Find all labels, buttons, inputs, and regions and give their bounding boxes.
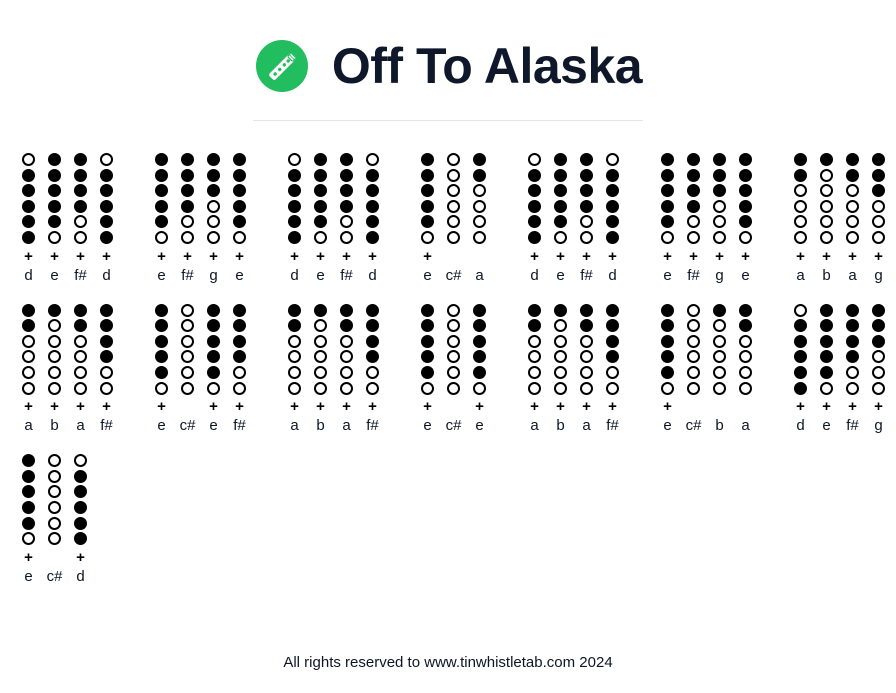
hole-closed-icon [739, 319, 752, 332]
hole-closed-icon [74, 200, 87, 213]
hole-closed-icon [554, 215, 567, 228]
fingering-holes [288, 304, 301, 398]
tab-measure: +a+b+a+f# [18, 304, 117, 436]
tab-note[interactable]: +e [151, 153, 172, 285]
fingering-holes [794, 153, 807, 247]
hole-closed-icon [421, 304, 434, 317]
fingering-holes [155, 304, 168, 398]
hole-open-icon [207, 382, 220, 395]
note-name-label: e [24, 568, 32, 586]
octave-marker: + [157, 249, 166, 264]
hole-closed-icon [739, 215, 752, 228]
fingering-holes [366, 153, 379, 247]
hole-closed-icon [74, 501, 87, 514]
hole-open-icon [794, 215, 807, 228]
tab-note[interactable]: +a [284, 304, 305, 436]
tab-note[interactable]: +e [550, 153, 571, 285]
hole-closed-icon [846, 335, 859, 348]
note-name-label: d [608, 267, 616, 285]
hole-open-icon [820, 169, 833, 182]
hole-closed-icon [661, 169, 674, 182]
hole-open-icon [447, 184, 460, 197]
hole-closed-icon [181, 153, 194, 166]
hole-open-icon [74, 215, 87, 228]
hole-closed-icon [155, 319, 168, 332]
octave-marker: + [157, 399, 166, 414]
hole-open-icon [739, 231, 752, 244]
hole-open-icon [872, 382, 885, 395]
tab-note[interactable]: +d [18, 153, 39, 285]
octave-marker: + [209, 249, 218, 264]
octave-marker: + [368, 249, 377, 264]
hole-closed-icon [794, 382, 807, 395]
hole-open-icon [48, 350, 61, 363]
tab-note[interactable]: +g [709, 153, 730, 285]
tab-note[interactable]: c# [443, 153, 464, 285]
hole-open-icon [48, 532, 61, 545]
hole-closed-icon [233, 169, 246, 182]
hole-open-icon [687, 304, 700, 317]
note-name-label: d [290, 267, 298, 285]
hole-closed-icon [713, 153, 726, 166]
note-name-label: d [368, 267, 376, 285]
hole-closed-icon [48, 169, 61, 182]
hole-open-icon [846, 215, 859, 228]
hole-closed-icon [473, 169, 486, 182]
hole-open-icon [181, 335, 194, 348]
tab-row: +d+e+f#+d+e+f#+g+e+d+e+f#+d+ec#a+d+e+f#+… [18, 153, 878, 285]
hole-closed-icon [22, 501, 35, 514]
hole-closed-icon [48, 304, 61, 317]
note-name-label: d [530, 267, 538, 285]
hole-open-icon [687, 366, 700, 379]
hole-closed-icon [74, 517, 87, 530]
note-name-label: b [316, 417, 324, 435]
tab-note[interactable]: +a [576, 304, 597, 436]
hole-closed-icon [473, 319, 486, 332]
tab-measure: +ec#+d [18, 454, 91, 586]
tab-note[interactable]: +f# [362, 304, 383, 436]
tab-note[interactable]: +f# [602, 304, 623, 436]
hole-closed-icon [687, 169, 700, 182]
tab-note[interactable]: +e [469, 304, 490, 436]
tab-note[interactable]: +e [229, 153, 250, 285]
hole-closed-icon [606, 350, 619, 363]
hole-closed-icon [48, 153, 61, 166]
tab-note[interactable]: +d [362, 153, 383, 285]
hole-closed-icon [661, 350, 674, 363]
hole-open-icon [22, 366, 35, 379]
hole-open-icon [447, 169, 460, 182]
hole-open-icon [794, 304, 807, 317]
hole-open-icon [713, 200, 726, 213]
hole-closed-icon [687, 153, 700, 166]
tab-note[interactable]: a [469, 153, 490, 285]
note-name-label: e [663, 417, 671, 435]
tab-measure: +ec#+e [417, 304, 490, 436]
hole-closed-icon [233, 319, 246, 332]
hole-closed-icon [74, 470, 87, 483]
hole-open-icon [48, 517, 61, 530]
note-name-label: c# [47, 568, 63, 586]
octave-marker: + [423, 249, 432, 264]
hole-closed-icon [580, 169, 593, 182]
tab-note[interactable]: +e [151, 304, 172, 436]
fingering-holes [74, 153, 87, 247]
fingering-holes [314, 153, 327, 247]
hole-open-icon [687, 231, 700, 244]
tab-note[interactable]: +f# [336, 153, 357, 285]
hole-closed-icon [528, 319, 541, 332]
hole-closed-icon [846, 304, 859, 317]
note-name-label: d [24, 267, 32, 285]
octave-marker: + [582, 249, 591, 264]
hole-open-icon [554, 335, 567, 348]
tab-note[interactable]: +e [18, 454, 39, 586]
octave-marker: + [316, 399, 325, 414]
hole-closed-icon [74, 153, 87, 166]
hole-open-icon [181, 382, 194, 395]
octave-marker: + [368, 399, 377, 414]
tab-note[interactable]: +e [657, 153, 678, 285]
hole-closed-icon [100, 335, 113, 348]
note-name-label: b [715, 417, 723, 435]
hole-open-icon [606, 382, 619, 395]
hole-open-icon [580, 231, 593, 244]
tab-note[interactable]: +a [524, 304, 545, 436]
hole-closed-icon [554, 169, 567, 182]
tin-whistle-logo-icon [254, 38, 310, 94]
hole-closed-icon [155, 304, 168, 317]
fingering-holes [233, 304, 246, 398]
octave-marker: + [76, 249, 85, 264]
hole-closed-icon [739, 304, 752, 317]
tab-note[interactable]: +e [735, 153, 756, 285]
hole-closed-icon [739, 184, 752, 197]
tab-note[interactable]: +f# [177, 153, 198, 285]
fingering-holes [606, 304, 619, 398]
hole-closed-icon [340, 184, 353, 197]
hole-closed-icon [100, 319, 113, 332]
page-title: Off To Alaska [332, 40, 642, 93]
fingering-holes [687, 304, 700, 398]
hole-open-icon [528, 153, 541, 166]
note-name-label: f# [846, 417, 859, 435]
fingering-holes [820, 304, 833, 398]
tab-measure: +d+e+f#+d [284, 153, 383, 285]
hole-closed-icon [554, 153, 567, 166]
hole-open-icon [181, 215, 194, 228]
note-name-label: a [76, 417, 84, 435]
fingering-holes [473, 153, 486, 247]
hole-closed-icon [181, 169, 194, 182]
hole-closed-icon [100, 304, 113, 317]
fingering-holes [421, 304, 434, 398]
hole-open-icon [48, 501, 61, 514]
note-name-label: e [556, 267, 564, 285]
hole-open-icon [48, 366, 61, 379]
note-name-label: c# [446, 417, 462, 435]
hole-closed-icon [794, 335, 807, 348]
fingering-holes [447, 304, 460, 398]
hole-closed-icon [872, 153, 885, 166]
hole-open-icon [447, 153, 460, 166]
hole-open-icon [580, 382, 593, 395]
tab-measure: +ec#+e+f# [151, 304, 250, 436]
octave-marker: + [102, 399, 111, 414]
tab-note[interactable]: +a [790, 153, 811, 285]
tab-note[interactable]: +g [203, 153, 224, 285]
tab-note[interactable]: +e [417, 304, 438, 436]
fingering-holes [473, 304, 486, 398]
hole-closed-icon [846, 350, 859, 363]
tab-note[interactable]: +f# [70, 153, 91, 285]
fingering-holes [580, 153, 593, 247]
tab-note[interactable]: +f# [576, 153, 597, 285]
fingering-holes [22, 454, 35, 548]
hole-open-icon [207, 231, 220, 244]
fingering-holes [739, 304, 752, 398]
tab-note[interactable]: +f# [96, 304, 117, 436]
octave-marker: + [24, 399, 33, 414]
note-name-label: b [822, 267, 830, 285]
hole-open-icon [314, 350, 327, 363]
hole-closed-icon [155, 153, 168, 166]
hole-closed-icon [22, 319, 35, 332]
hole-open-icon [288, 366, 301, 379]
tab-note[interactable]: +e [310, 153, 331, 285]
tab-note[interactable]: +d [524, 153, 545, 285]
hole-closed-icon [528, 184, 541, 197]
hole-closed-icon [366, 184, 379, 197]
hole-closed-icon [872, 169, 885, 182]
hole-closed-icon [288, 200, 301, 213]
hole-open-icon [687, 319, 700, 332]
hole-closed-icon [288, 169, 301, 182]
hole-open-icon [739, 350, 752, 363]
hole-closed-icon [155, 184, 168, 197]
hole-open-icon [340, 350, 353, 363]
tab-note[interactable]: +d [284, 153, 305, 285]
hole-closed-icon [580, 184, 593, 197]
hole-open-icon [447, 319, 460, 332]
tablature-area: +d+e+f#+d+e+f#+g+e+d+e+f#+d+ec#a+d+e+f#+… [0, 153, 896, 586]
tab-note[interactable]: +e [657, 304, 678, 436]
tab-note[interactable]: +e [44, 153, 65, 285]
hole-open-icon [181, 319, 194, 332]
hole-open-icon [447, 304, 460, 317]
hole-closed-icon [687, 200, 700, 213]
tab-note[interactable]: +b [44, 304, 65, 436]
tab-note[interactable]: +d [96, 153, 117, 285]
tab-note[interactable]: c# [683, 304, 704, 436]
octave-marker: + [235, 399, 244, 414]
tab-note[interactable]: +e [203, 304, 224, 436]
hole-open-icon [846, 231, 859, 244]
hole-closed-icon [181, 200, 194, 213]
note-name-label: a [741, 417, 749, 435]
hole-closed-icon [606, 184, 619, 197]
note-name-label: f# [74, 267, 87, 285]
tab-note[interactable]: +a [842, 153, 863, 285]
note-name-label: e [157, 267, 165, 285]
hole-closed-icon [233, 153, 246, 166]
hole-closed-icon [713, 184, 726, 197]
hole-closed-icon [580, 153, 593, 166]
tab-measure: +a+b+a+f# [524, 304, 623, 436]
hole-closed-icon [366, 169, 379, 182]
hole-closed-icon [233, 335, 246, 348]
hole-open-icon [181, 304, 194, 317]
tab-measure: +a+b+a+g [790, 153, 889, 285]
note-name-label: g [715, 267, 723, 285]
hole-closed-icon [22, 454, 35, 467]
hole-closed-icon [661, 319, 674, 332]
fingering-holes [447, 153, 460, 247]
hole-closed-icon [606, 319, 619, 332]
fingering-holes [739, 153, 752, 247]
tab-note[interactable]: +a [336, 304, 357, 436]
hole-open-icon [314, 382, 327, 395]
hole-closed-icon [820, 335, 833, 348]
hole-closed-icon [207, 350, 220, 363]
fingering-holes [661, 304, 674, 398]
hole-closed-icon [661, 304, 674, 317]
hole-closed-icon [606, 335, 619, 348]
hole-closed-icon [74, 532, 87, 545]
hole-closed-icon [233, 200, 246, 213]
hole-closed-icon [580, 304, 593, 317]
octave-marker: + [796, 249, 805, 264]
hole-closed-icon [794, 319, 807, 332]
tab-note[interactable]: +d [70, 454, 91, 586]
hole-closed-icon [74, 169, 87, 182]
hole-open-icon [74, 335, 87, 348]
tab-note[interactable]: +d [602, 153, 623, 285]
note-name-label: e [157, 417, 165, 435]
fingering-holes [421, 153, 434, 247]
hole-open-icon [846, 382, 859, 395]
hole-closed-icon [820, 366, 833, 379]
tab-note[interactable]: +b [816, 153, 837, 285]
note-name-label: d [796, 417, 804, 435]
octave-marker: + [822, 399, 831, 414]
note-name-label: f# [606, 417, 619, 435]
tab-note[interactable]: +b [550, 304, 571, 436]
hole-closed-icon [100, 184, 113, 197]
hole-closed-icon [661, 153, 674, 166]
hole-closed-icon [528, 215, 541, 228]
hole-open-icon [820, 200, 833, 213]
hole-closed-icon [528, 304, 541, 317]
hole-open-icon [207, 200, 220, 213]
hole-closed-icon [340, 169, 353, 182]
hole-closed-icon [155, 215, 168, 228]
hole-open-icon [554, 366, 567, 379]
tab-note[interactable]: +a [70, 304, 91, 436]
hole-closed-icon [739, 200, 752, 213]
octave-marker: + [874, 399, 883, 414]
tab-note[interactable]: +e [816, 304, 837, 436]
hole-open-icon [314, 335, 327, 348]
note-name-label: g [209, 267, 217, 285]
note-name-label: f# [687, 267, 700, 285]
hole-open-icon [872, 200, 885, 213]
hole-closed-icon [820, 350, 833, 363]
octave-marker: + [235, 249, 244, 264]
tab-note[interactable]: +f# [683, 153, 704, 285]
fingering-holes [366, 304, 379, 398]
tab-note[interactable]: +b [310, 304, 331, 436]
hole-closed-icon [794, 153, 807, 166]
hole-open-icon [528, 366, 541, 379]
tab-note[interactable]: a [735, 304, 756, 436]
tab-note[interactable]: +g [868, 304, 889, 436]
hole-closed-icon [288, 319, 301, 332]
hole-closed-icon [366, 304, 379, 317]
tab-note[interactable]: c# [44, 454, 65, 586]
tab-note[interactable]: +g [868, 153, 889, 285]
hole-closed-icon [366, 350, 379, 363]
hole-closed-icon [421, 184, 434, 197]
fingering-holes [207, 304, 220, 398]
octave-marker: + [76, 550, 85, 565]
octave-marker: + [848, 249, 857, 264]
hole-closed-icon [366, 319, 379, 332]
tab-note[interactable]: +f# [229, 304, 250, 436]
octave-marker: + [848, 399, 857, 414]
tab-note[interactable]: +f# [842, 304, 863, 436]
hole-closed-icon [288, 231, 301, 244]
octave-marker: + [475, 399, 484, 414]
note-name-label: g [874, 417, 882, 435]
tab-note[interactable]: c# [177, 304, 198, 436]
fingering-holes [580, 304, 593, 398]
hole-closed-icon [22, 200, 35, 213]
hole-closed-icon [340, 319, 353, 332]
hole-closed-icon [155, 366, 168, 379]
note-name-label: e [475, 417, 483, 435]
hole-closed-icon [820, 319, 833, 332]
tab-note[interactable]: b [709, 304, 730, 436]
tab-note[interactable]: +e [417, 153, 438, 285]
hole-closed-icon [606, 215, 619, 228]
tab-row: +ec#+d [18, 454, 878, 586]
hole-closed-icon [528, 169, 541, 182]
hole-closed-icon [48, 184, 61, 197]
hole-closed-icon [48, 215, 61, 228]
fingering-holes [288, 153, 301, 247]
hole-closed-icon [288, 215, 301, 228]
hole-open-icon [713, 231, 726, 244]
note-name-label: e [822, 417, 830, 435]
tab-measure: +e+f#+g+e [151, 153, 250, 285]
octave-marker: + [741, 249, 750, 264]
hole-open-icon [22, 382, 35, 395]
tab-measure: +ec#ba [657, 304, 756, 436]
tab-note[interactable]: +d [790, 304, 811, 436]
hole-open-icon [340, 382, 353, 395]
hole-closed-icon [606, 304, 619, 317]
hole-open-icon [22, 532, 35, 545]
hole-open-icon [872, 350, 885, 363]
tab-note[interactable]: c# [443, 304, 464, 436]
hole-open-icon [554, 382, 567, 395]
hole-closed-icon [421, 335, 434, 348]
tab-note[interactable]: +a [18, 304, 39, 436]
hole-closed-icon [846, 169, 859, 182]
hole-open-icon [366, 366, 379, 379]
